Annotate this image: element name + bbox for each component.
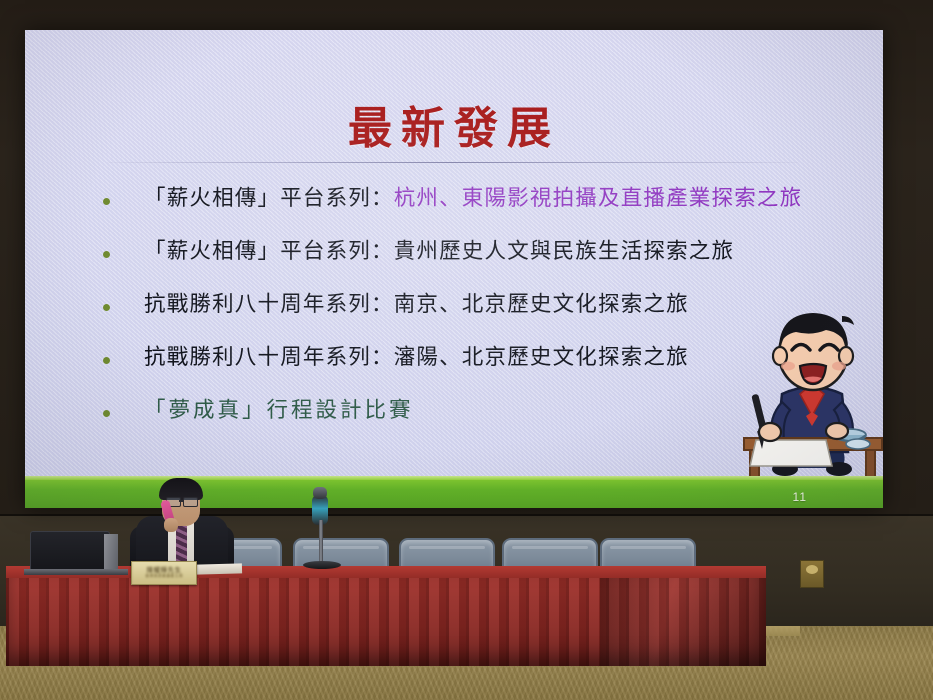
table-skirt-fold: [600, 578, 766, 666]
bullet-dot-icon: [103, 357, 110, 364]
desk-microphone-base: [303, 561, 341, 569]
name-placard: 陳耀輝先生 香港旅遊業議會主席: [131, 561, 197, 585]
placard-blur-overlay: [132, 562, 196, 584]
slide-title: 最新發展: [25, 92, 883, 156]
papers-on-table: [196, 563, 242, 574]
bullet-dot-icon: [103, 198, 110, 205]
bullet-text: 「薪火相傳」平台系列：杭州、東陽影視拍攝及直播產業探索之旅: [144, 182, 802, 216]
bullet-text-prefix: 「薪火相傳」平台系列：: [144, 186, 394, 211]
bullet-text-prefix: 「薪火相傳」平台系列：貴州歷史人文與民族生活探索之旅: [144, 239, 734, 264]
title-divider: [108, 162, 798, 163]
laptop-keyboard: [24, 569, 128, 575]
list-item: 「薪火相傳」平台系列：杭州、東陽影視拍攝及直播產業探索之旅: [97, 182, 863, 235]
speaker-hand: [164, 518, 178, 532]
bullet-text: 「夢成真」行程設計比賽: [144, 394, 414, 428]
eyeglasses-bridge-icon: [179, 500, 183, 502]
calligraphy-boy-illustration: [738, 298, 883, 488]
desk-microphone-tip: [313, 487, 327, 499]
desk-microphone-stem: [319, 520, 323, 564]
bullet-text: 抗戰勝利八十周年系列：瀋陽、北京歷史文化探索之旅: [144, 341, 689, 375]
wall-plaque-icon: [800, 560, 824, 588]
laptop-hinge: [104, 534, 118, 570]
bullet-dot-icon: [103, 251, 110, 258]
bullet-text-prefix: 「夢成真」行程設計比賽: [144, 398, 414, 423]
bullet-text: 抗戰勝利八十周年系列：南京、北京歷史文化探索之旅: [144, 288, 689, 322]
bullet-text-prefix: 抗戰勝利八十周年系列：瀋陽、北京歷史文化探索之旅: [144, 345, 689, 370]
speaker-person: [128, 478, 236, 574]
projection-screen: 最新發展 「薪火相傳」平台系列：杭州、東陽影視拍攝及直播產業探索之旅 「薪火相傳…: [25, 30, 883, 508]
list-item: 「薪火相傳」平台系列：貴州歷史人文與民族生活探索之旅: [97, 235, 863, 288]
bullet-text-highlight: 杭州、東陽影視拍攝及直播產業探索之旅: [394, 186, 803, 211]
page-number: 11: [793, 490, 807, 504]
presentation-slide: 最新發展 「薪火相傳」平台系列：杭州、東陽影視拍攝及直播產業探索之旅 「薪火相傳…: [25, 30, 883, 508]
bullet-dot-icon: [103, 304, 110, 311]
bullet-text-prefix: 抗戰勝利八十周年系列：南京、北京歷史文化探索之旅: [144, 292, 689, 317]
bullet-text: 「薪火相傳」平台系列：貴州歷史人文與民族生活探索之旅: [144, 235, 734, 269]
laptop-screen: [30, 531, 110, 573]
conference-room-scene: 最新發展 「薪火相傳」平台系列：杭州、東陽影視拍攝及直播產業探索之旅 「薪火相傳…: [0, 0, 933, 700]
bullet-dot-icon: [103, 410, 110, 417]
eyeglasses-right-lens-icon: [183, 497, 198, 507]
